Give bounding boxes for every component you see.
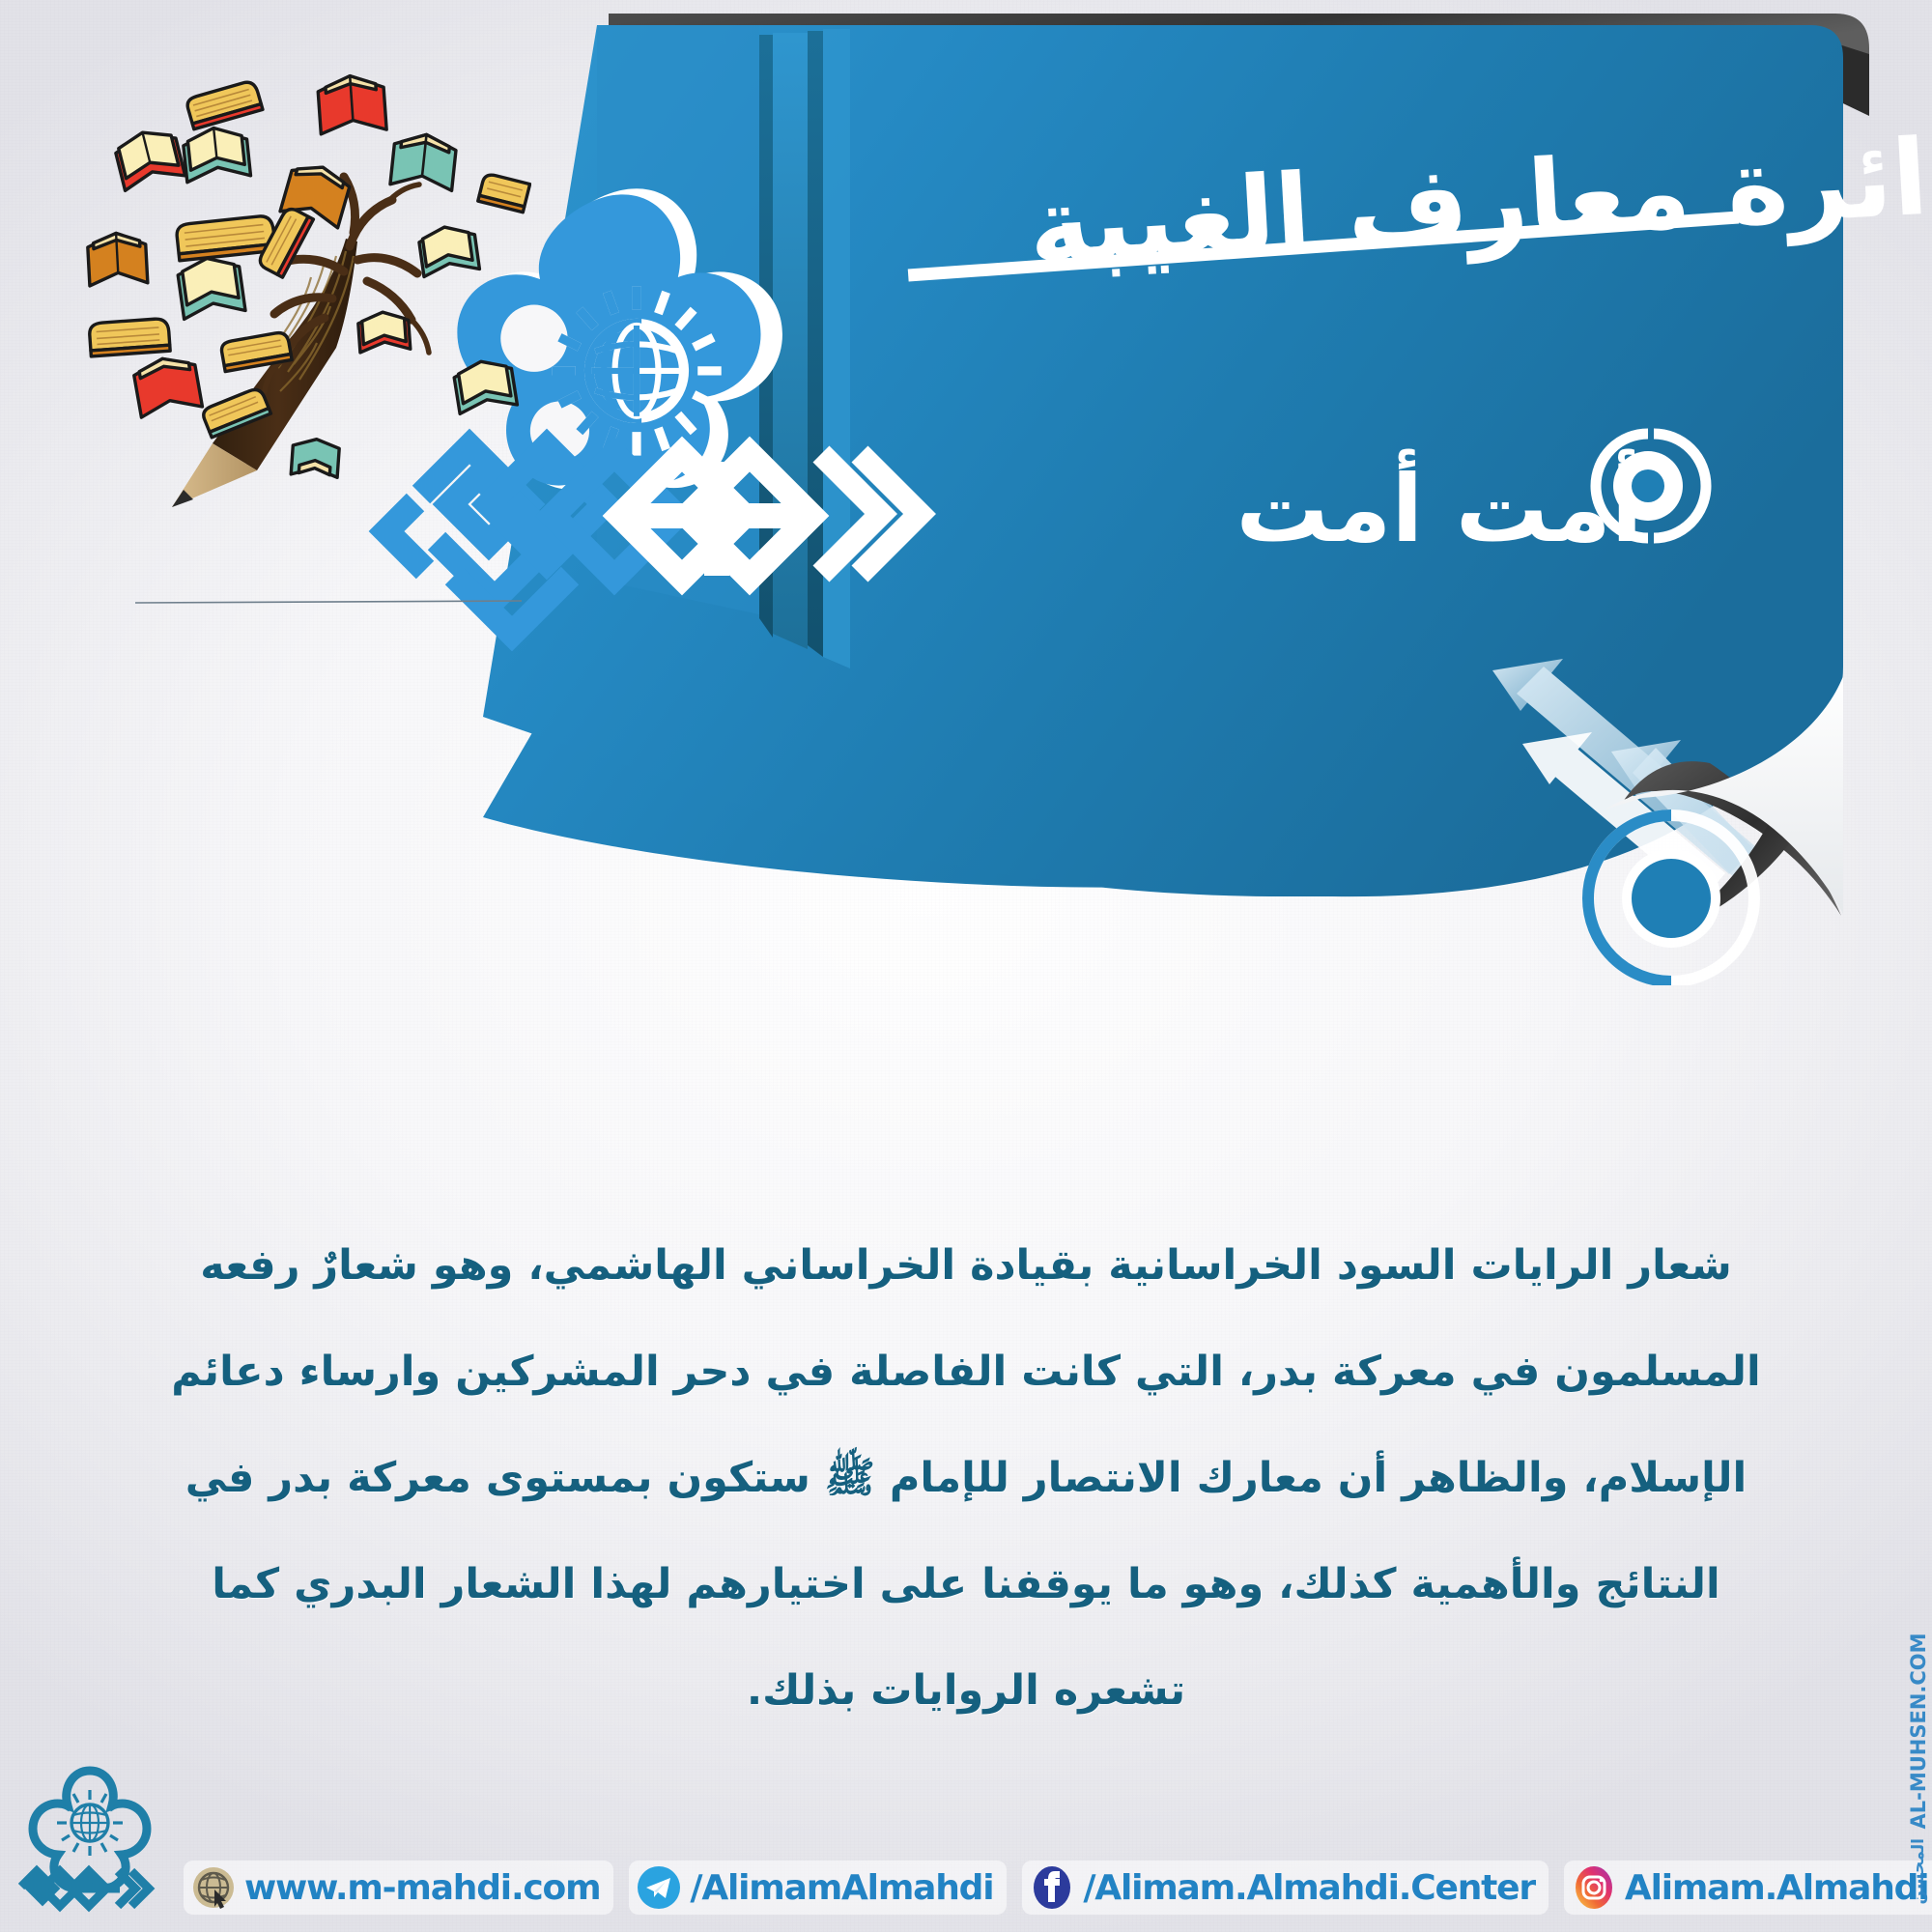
footer-link-telegram[interactable]: /AlimamAlmahdi (629, 1861, 1007, 1915)
footer-link-label: www.m-mahdi.com (244, 1868, 600, 1908)
facebook-icon (1030, 1865, 1074, 1910)
instagram-icon (1572, 1865, 1616, 1910)
watermark-arabic: المحسن (1909, 1839, 1928, 1905)
pencil-drawn-line (135, 591, 522, 597)
telegram-icon (637, 1865, 681, 1910)
footer-link-label: /Alimam.Almahdi.Center (1083, 1868, 1535, 1908)
open-book-icon (87, 73, 529, 477)
footer-link-instagram[interactable]: Alimam.Almahdi.Center (1564, 1861, 1932, 1915)
body-line-3: الإسلام، والظاهر أن معارك الانتصار للإما… (58, 1425, 1874, 1531)
watermark: AL-MUHSEN.COM المحسن (1907, 1633, 1930, 1905)
body-line-4: النتائج والأهمية كذلك، وهو ما يوقفنا على… (58, 1531, 1874, 1637)
banner-subtitle-svg: أمت أمت (1236, 449, 1642, 563)
globe-cursor-icon (191, 1865, 236, 1910)
book-tree-pencil-illustration (68, 53, 531, 536)
watermark-site: AL-MUHSEN.COM (1907, 1633, 1930, 1829)
footer-social-bar: www.m-mahdi.com /AlimamAlmahdi /Alimam.A… (0, 1843, 1932, 1932)
body-line-1: شعار الرايات السود الخراسانية بقيادة الخ… (58, 1212, 1874, 1319)
article-body: شعار الرايات السود الخراسانية بقيادة الخ… (58, 1212, 1874, 1744)
footer-link-facebook[interactable]: /Alimam.Almahdi.Center (1022, 1861, 1548, 1915)
footer-link-label: /AlimamAlmahdi (690, 1868, 993, 1908)
body-line-2: المسلمون في معركة بدر، التي كانت الفاصلة… (58, 1319, 1874, 1425)
body-line-5: تشعره الروايات بذلك. (58, 1637, 1874, 1744)
footer-link-label: Alimam.Almahdi.Center (1625, 1868, 1932, 1908)
footer-link-website[interactable]: www.m-mahdi.com (184, 1861, 613, 1915)
